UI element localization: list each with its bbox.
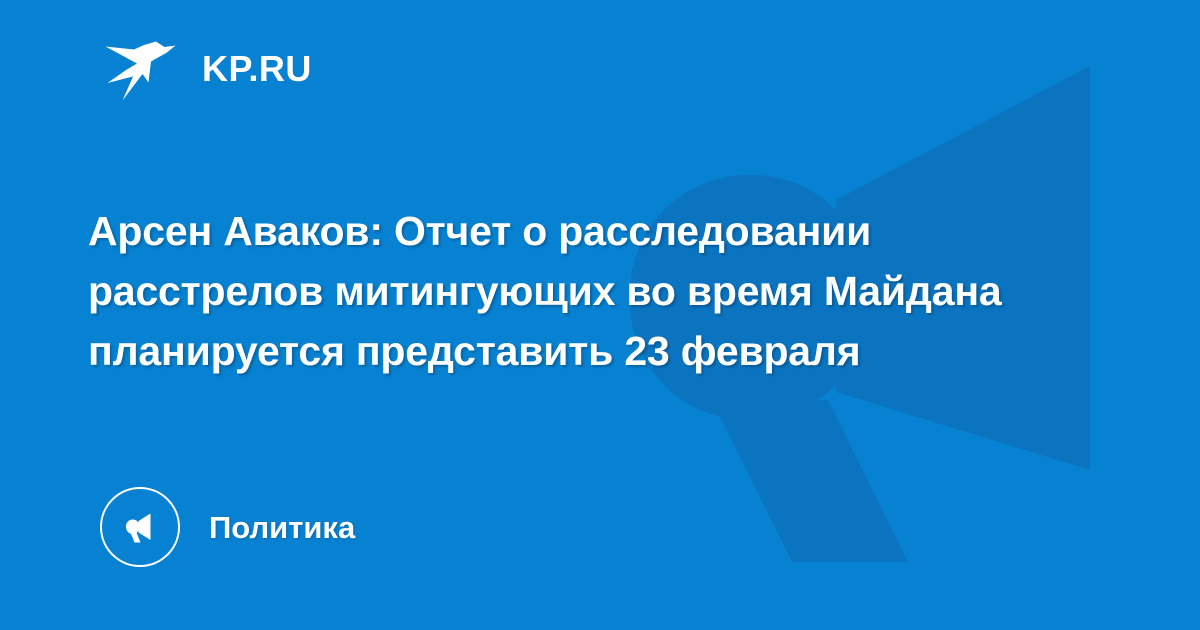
social-share-card: KP.RU Арсен Аваков: Отчет о расследовани…	[0, 0, 1200, 630]
category-badge	[100, 487, 180, 567]
megaphone-icon	[119, 506, 161, 548]
category-tag[interactable]: Политика	[100, 487, 355, 567]
brand-logo[interactable]: KP.RU	[104, 36, 312, 102]
swallow-bird-icon	[104, 36, 178, 102]
category-label: Политика	[209, 512, 355, 543]
brand-name: KP.RU	[202, 51, 312, 87]
page-title: Арсен Аваков: Отчет о расследовании расс…	[88, 201, 1068, 381]
